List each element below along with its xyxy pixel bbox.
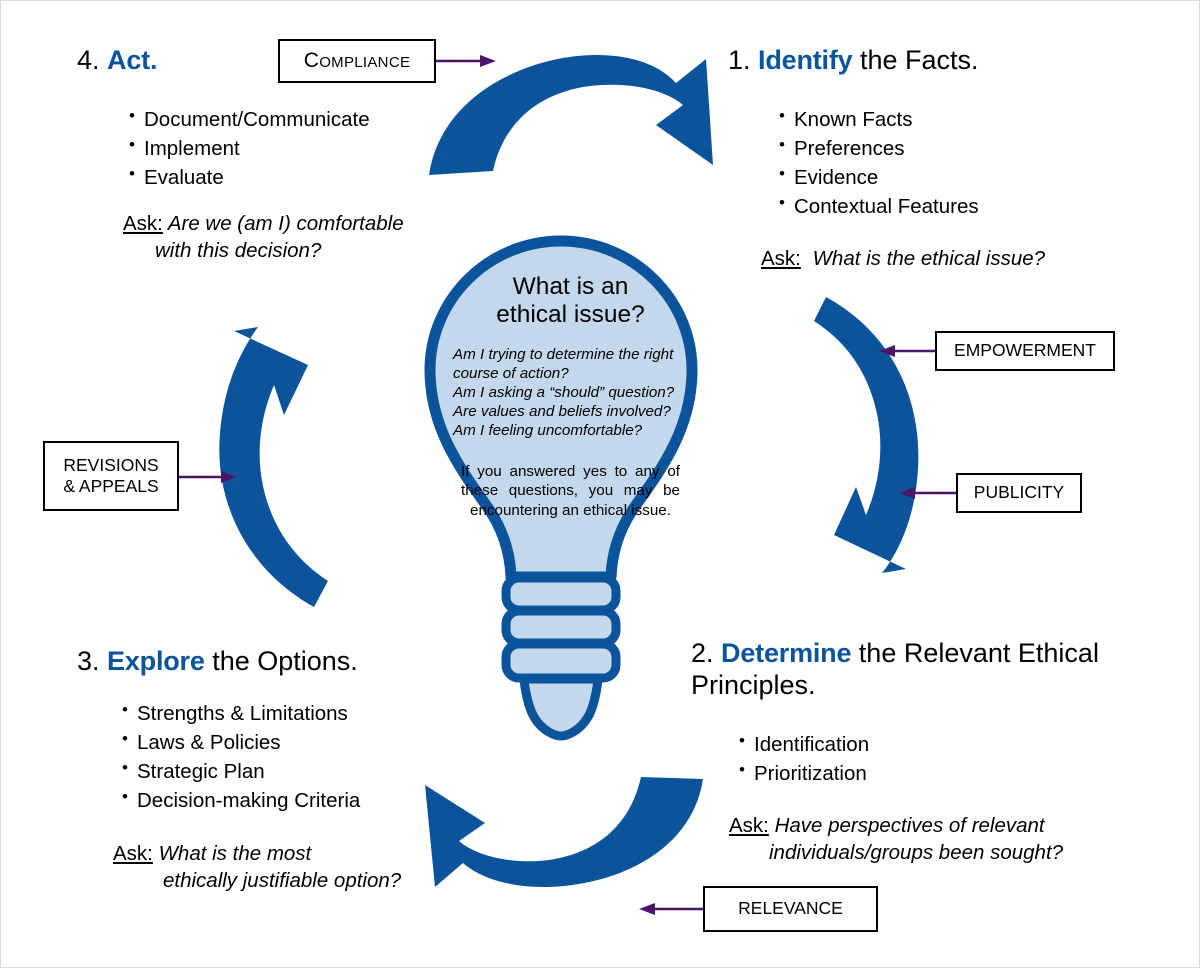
list-item: Implement — [129, 134, 370, 163]
ask-label: Ask: — [113, 842, 153, 865]
tag-label-relevance: RELEVANCE — [738, 898, 843, 919]
ask-label: Ask: — [729, 814, 769, 837]
step-explore-keyword: Explore — [107, 646, 205, 676]
step-act-bullets: Document/Communicate Implement Evaluate — [111, 105, 370, 192]
cycle-arrow-left — [206, 321, 341, 611]
ask-line1: Are we (am I) comfortable — [168, 212, 404, 235]
list-item: Decision-making Criteria — [122, 786, 360, 815]
tag-box-relevance[interactable]: RELEVANCE — [703, 886, 878, 932]
list-item: Document/Communicate — [129, 105, 370, 134]
tag-box-publicity[interactable]: PUBLICITY — [956, 473, 1082, 513]
connector-empowerment — [879, 341, 939, 361]
ask-label: Ask: — [123, 212, 163, 235]
step-identify-ask: Ask: What is the ethical issue? — [761, 246, 1161, 273]
list-item: Known Facts — [779, 105, 979, 134]
diagram-canvas: What is an ethical issue? Am I trying to… — [0, 0, 1200, 968]
bulb-text-block: What is an ethical issue? Am I trying to… — [453, 273, 688, 521]
list-item: Laws & Policies — [122, 728, 360, 757]
bulb-title-line2: ethical issue? — [453, 301, 688, 329]
step-identify-heading: 1. Identify the Facts. — [728, 45, 979, 77]
step-identify-rest: the Facts. — [852, 45, 978, 75]
list-item: Strategic Plan — [122, 757, 360, 786]
tag-label-empowerment: EMPOWERMENT — [954, 340, 1096, 361]
list-item: Evaluate — [129, 163, 370, 192]
step-act-number: 4. — [77, 45, 100, 75]
list-item: Prioritization — [739, 759, 869, 788]
ask-line1: What is the ethical issue? — [807, 247, 1045, 270]
ask-line1: What is the most — [159, 842, 312, 865]
tag-box-revisions-appeals[interactable]: REVISIONS & APPEALS — [43, 441, 179, 511]
list-item: Evidence — [779, 163, 979, 192]
step-determine-bullets: Identification Prioritization — [721, 730, 869, 788]
bulb-question-line: Am I asking a “should” question? — [453, 383, 688, 402]
step-determine-heading: 2. Determine the Relevant Ethical Princi… — [691, 638, 1111, 702]
bulb-questions: Am I trying to determine the right cours… — [453, 345, 688, 441]
list-item: Strengths & Limitations — [122, 699, 360, 728]
step-act-heading: 4. Act. — [77, 45, 157, 77]
cycle-arrow-top — [421, 53, 721, 178]
list-item: Preferences — [779, 134, 979, 163]
bulb-title-line1: What is an — [453, 273, 688, 301]
list-item: Identification — [739, 730, 869, 759]
tag-label-revisions-line2: & APPEALS — [63, 476, 158, 497]
cycle-arrow-bottom — [411, 771, 711, 891]
bulb-question-line: course of action? — [453, 364, 688, 383]
step-explore-rest: the Options. — [205, 646, 358, 676]
step-act-keyword: Act. — [107, 45, 157, 75]
step-explore-number: 3. — [77, 646, 100, 676]
step-identify-bullets: Known Facts Preferences Evidence Context… — [761, 105, 979, 221]
tag-label-publicity: PUBLICITY — [974, 482, 1064, 503]
step-identify-keyword: Identify — [758, 45, 852, 75]
tag-box-empowerment[interactable]: EMPOWERMENT — [935, 331, 1115, 371]
connector-publicity — [899, 483, 959, 503]
bulb-question-line: Are values and beliefs involved? — [453, 402, 688, 421]
step-identify-number: 1. — [728, 45, 751, 75]
tag-label-revisions-line1: REVISIONS — [63, 455, 158, 476]
ask-line1: Have perspectives of relevant — [775, 814, 1045, 837]
step-determine-ask: Ask: Have perspectives of relevant indiv… — [729, 813, 1189, 866]
ask-label: Ask: — [761, 247, 801, 270]
step-determine-keyword: Determine — [721, 638, 851, 668]
cycle-arrow-right — [796, 291, 926, 576]
step-explore-heading: 3. Explore the Options. — [77, 646, 358, 678]
list-item: Contextual Features — [779, 192, 979, 221]
connector-revisions-appeals — [179, 467, 237, 487]
connector-compliance — [436, 51, 498, 71]
ask-line2: individuals/groups been sought? — [729, 840, 1189, 867]
bulb-question-line: Am I trying to determine the right — [453, 345, 688, 364]
bulb-question-line: Am I feeling uncomfortable? — [453, 421, 688, 440]
bulb-title: What is an ethical issue? — [453, 273, 688, 330]
step-explore-bullets: Strengths & Limitations Laws & Policies … — [104, 699, 360, 815]
bulb-note: If you answered yes to any of these ques… — [453, 462, 688, 521]
connector-relevance — [637, 899, 707, 919]
tag-box-compliance[interactable]: Compliance — [278, 39, 436, 83]
tag-label-compliance: Compliance — [304, 48, 411, 74]
